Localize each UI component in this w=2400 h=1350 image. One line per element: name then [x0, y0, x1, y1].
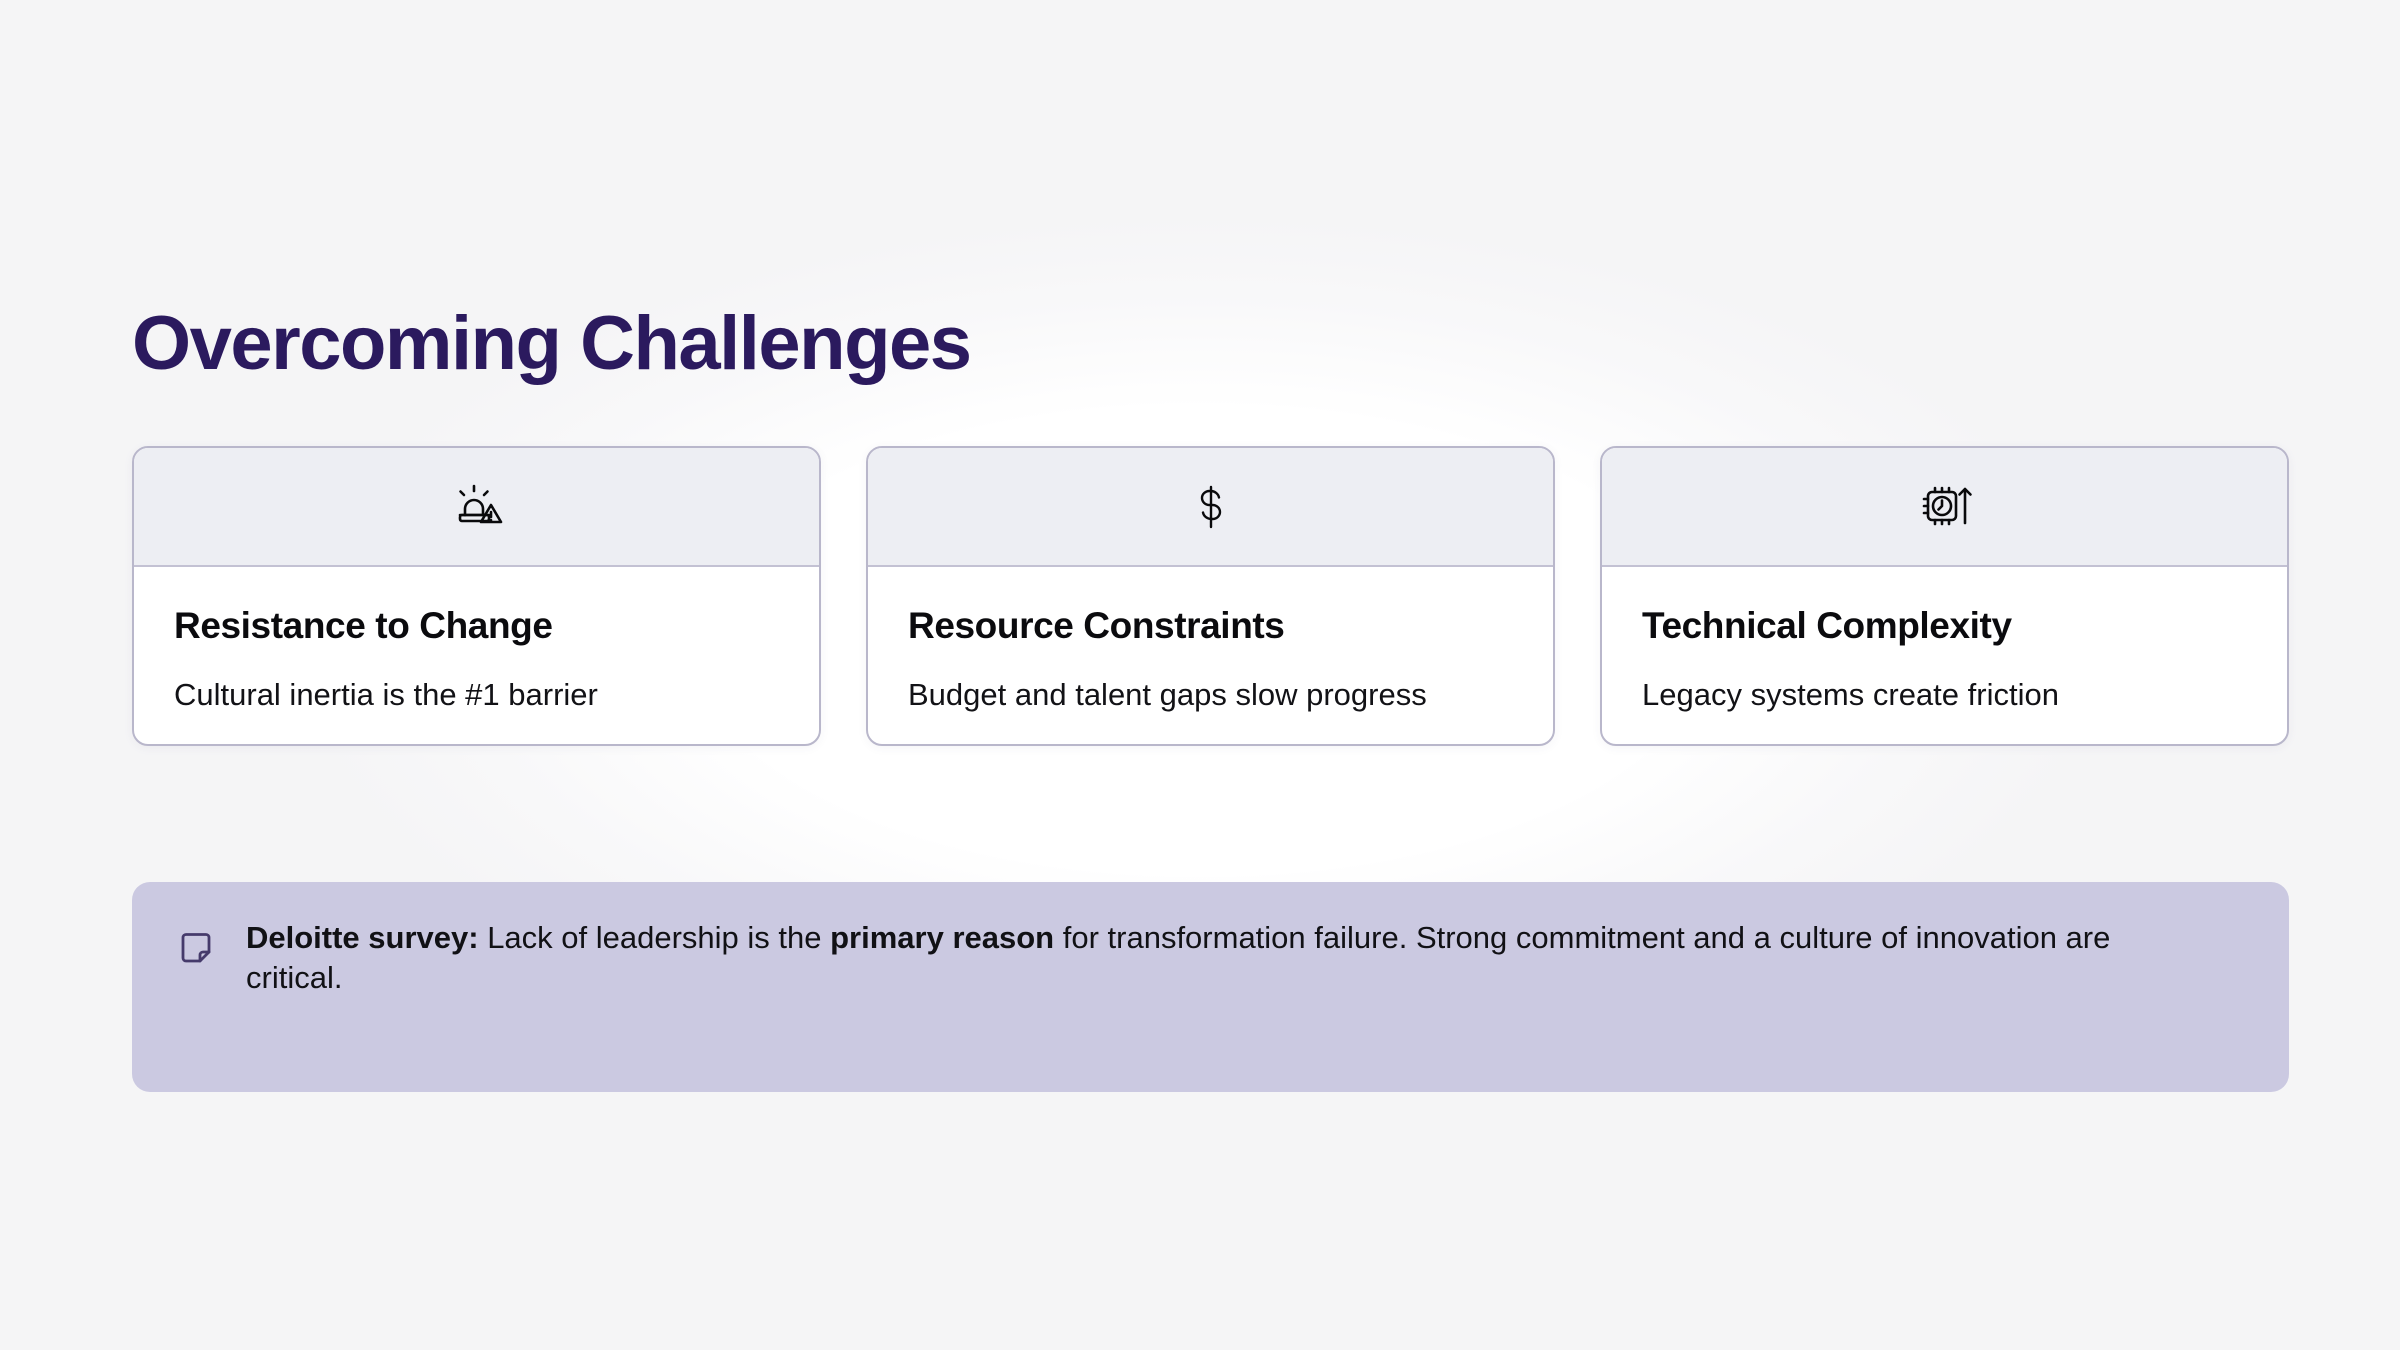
callout-emphasis: primary reason: [830, 920, 1054, 955]
challenge-card-resistance-to-change[interactable]: Resistance to Change Cultural inertia is…: [132, 446, 821, 746]
card-title: Resistance to Change: [174, 605, 779, 648]
card-body: Resistance to Change Cultural inertia is…: [134, 567, 819, 744]
card-body: Technical Complexity Legacy systems crea…: [1602, 567, 2287, 744]
slide-canvas: Overcoming Challenges: [0, 0, 2400, 1350]
card-header: [868, 448, 1553, 567]
card-description: Budget and talent gaps slow progress: [908, 676, 1468, 715]
callout-text-part-1: Lack of leadership is the: [479, 920, 831, 955]
challenge-card-row: Resistance to Change Cultural inertia is…: [132, 446, 2289, 746]
card-description: Cultural inertia is the #1 barrier: [174, 676, 734, 715]
callout-lead: Deloitte survey:: [246, 920, 479, 955]
card-body: Resource Constraints Budget and talent g…: [868, 567, 1553, 744]
challenge-card-technical-complexity[interactable]: Technical Complexity Legacy systems crea…: [1600, 446, 2289, 746]
card-description: Legacy systems create friction: [1642, 676, 2202, 715]
siren-warning-icon: [445, 475, 509, 539]
callout-banner: Deloitte survey: Lack of leadership is t…: [132, 882, 2289, 1092]
page-title: Overcoming Challenges: [132, 306, 971, 382]
challenge-card-resource-constraints[interactable]: Resource Constraints Budget and talent g…: [866, 446, 1555, 746]
card-title: Technical Complexity: [1642, 605, 2247, 648]
card-title: Resource Constraints: [908, 605, 1513, 648]
sticky-note-icon: [176, 918, 216, 968]
dollar-sign-icon: [1179, 475, 1243, 539]
card-header: [1602, 448, 2287, 567]
cpu-clock-arrow-icon: [1913, 475, 1977, 539]
callout-text: Deloitte survey: Lack of leadership is t…: [246, 918, 2166, 997]
card-header: [134, 448, 819, 567]
